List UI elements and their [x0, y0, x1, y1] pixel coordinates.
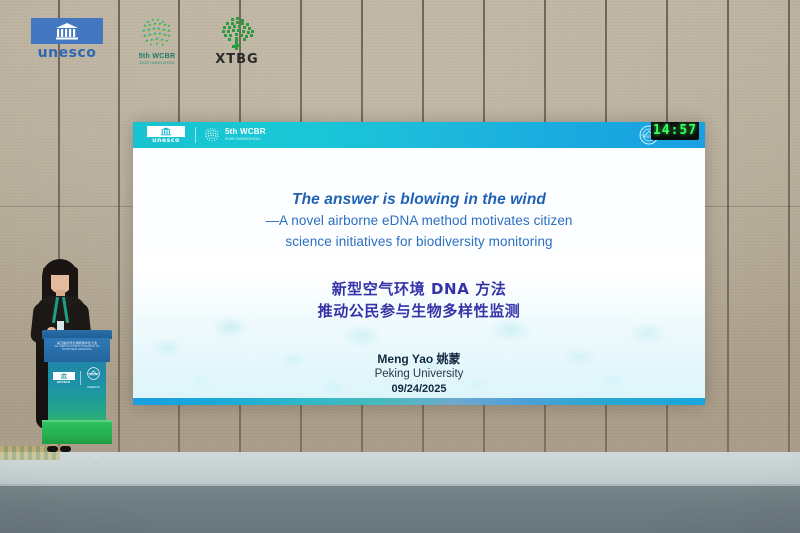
- presentation-screen[interactable]: unesco 5th WCBR 2025 HANGZHOU: [133, 122, 705, 405]
- slide-subtitle-line1: —A novel airborne eDNA method motivates …: [133, 210, 705, 231]
- slide-unesco-logo: unesco: [145, 126, 187, 144]
- wcbr-globe-icon: [138, 14, 176, 52]
- slide-title-main: The answer is blowing in the wind: [133, 190, 705, 210]
- greek-temple-icon: [54, 22, 80, 41]
- countdown-clock: 14:57: [651, 122, 699, 140]
- header-divider: [195, 127, 196, 143]
- wall-logo-xtbg: XTBG: [206, 16, 268, 67]
- greek-temple-icon: [59, 373, 68, 379]
- wcbr-subtitle: 2025 HANGZHOU: [225, 136, 266, 141]
- slide-chinese-title-block: 新型空气环境 DNA 方法 推动公民参与生物多样性监测: [133, 278, 705, 322]
- wall-seam: [788, 0, 790, 470]
- podium-logo-seal: UNESCO: [85, 367, 103, 389]
- xtbg-tree-icon: [217, 16, 257, 52]
- unesco-emblem-icon: [53, 372, 75, 380]
- unesco-wordmark: unesco: [28, 45, 106, 61]
- slide-subtitle-line2: science initiatives for biodiversity mon…: [133, 231, 705, 252]
- podium-logo-group: unesco UNESCO: [50, 368, 104, 388]
- wcbr-title: 5th WCBR: [126, 53, 188, 60]
- podium-banner-text: 第五届世界生物圈保护区大会 5th UNESCO WORLD CONGRESS …: [50, 341, 104, 351]
- stage-floor-speckle: [0, 452, 800, 488]
- unesco-wordmark: unesco: [145, 137, 187, 144]
- podium-base: [42, 422, 112, 444]
- wall-logo-wcbr: 5th WCBR 2025 HANGZHOU: [126, 14, 188, 65]
- wall-logo-group: unesco: [28, 14, 258, 76]
- podium-banner-en: 5th UNESCO WORLD CONGRESS OF BIOSPHERE R…: [50, 345, 104, 351]
- clock-time: 14:57: [653, 123, 697, 138]
- podium-logo-unesco: unesco: [52, 372, 76, 385]
- wcbr-globe-icon: [203, 126, 221, 144]
- presenter-affiliation: Peking University: [133, 367, 705, 382]
- slide-content: The answer is blowing in the wind —A nov…: [133, 148, 705, 405]
- presenter-block: Meng Yao 姚蒙 Peking University 09/24/2025: [133, 351, 705, 397]
- unesco-seal-icon: [87, 367, 100, 380]
- wcbr-subtitle: 2025 HANGZHOU: [126, 60, 188, 65]
- slide-title-block: The answer is blowing in the wind —A nov…: [133, 190, 705, 252]
- xtbg-wordmark: XTBG: [206, 52, 268, 67]
- slide-wcbr-label: 5th WCBR 2025 HANGZHOU: [225, 127, 266, 141]
- slide-footer-gradient-bar: [133, 398, 705, 405]
- unesco-emblem-icon: [147, 126, 185, 137]
- chinese-title-line1: 新型空气环境 DNA 方法: [133, 278, 705, 300]
- wcbr-title: 5th WCBR: [225, 127, 266, 136]
- wall-logo-unesco: unesco: [28, 18, 106, 61]
- stage-platform-front: [0, 486, 800, 533]
- slide-header-bar: unesco 5th WCBR 2025 HANGZHOU: [133, 122, 705, 148]
- conference-photo-scene: unesco: [0, 0, 800, 533]
- chinese-title-line2: 推动公民参与生物多样性监测: [133, 300, 705, 322]
- greek-temple-icon: [159, 127, 173, 136]
- lectern-podium: 第五届世界生物圈保护区大会 5th UNESCO WORLD CONGRESS …: [42, 330, 112, 450]
- presenter-name: Meng Yao 姚蒙: [133, 351, 705, 367]
- speaker-badge: [57, 321, 64, 330]
- unesco-emblem-icon: [31, 18, 103, 44]
- podium-banner-panel: 第五届世界生物圈保护区大会 5th UNESCO WORLD CONGRESS …: [44, 338, 110, 362]
- podium-seal-label: UNESCO: [85, 385, 103, 389]
- podium-logo-divider: [80, 371, 81, 385]
- presentation-date: 09/24/2025: [133, 382, 705, 397]
- wall-seam: [727, 0, 729, 470]
- unesco-wordmark: unesco: [52, 380, 76, 385]
